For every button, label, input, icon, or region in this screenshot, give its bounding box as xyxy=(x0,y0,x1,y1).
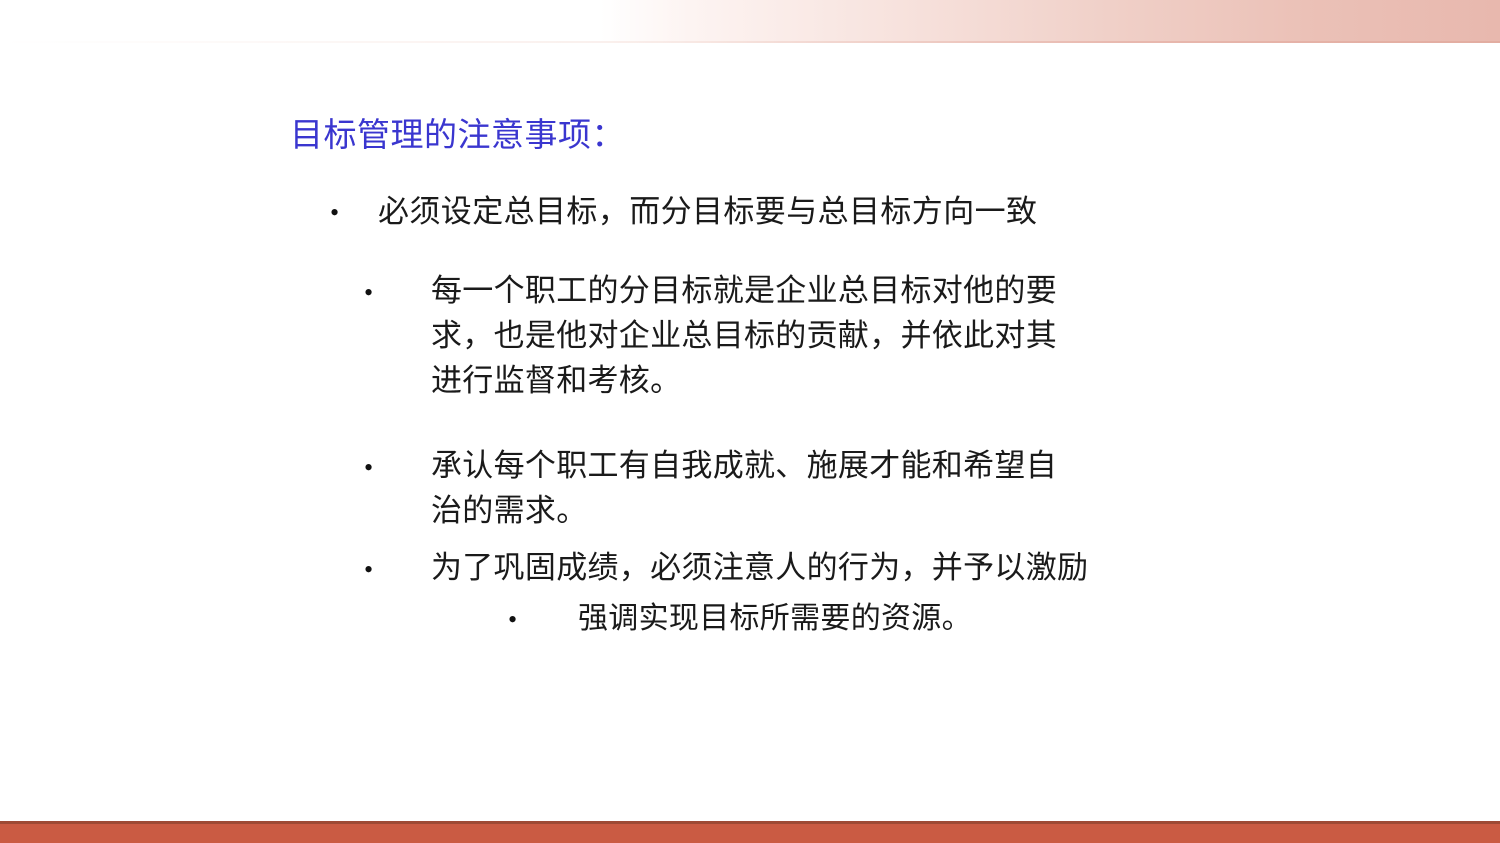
bullet-item: • 每一个职工的分目标就是企业总目标对他的要 求，也是他对企业总目标的贡献，并依… xyxy=(0,268,1500,443)
slide-body: • 必须设定总目标，而分目标要与总目标方向一致 • 每一个职工的分目标就是企业总… xyxy=(0,190,1500,649)
bullet-item: • 强调实现目标所需要的资源。 xyxy=(0,597,1500,649)
bullet-item: • 必须设定总目标，而分目标要与总目标方向一致 xyxy=(0,190,1500,268)
page-title: 目标管理的注意事项： xyxy=(290,114,625,158)
top-decorative-band xyxy=(0,0,1500,43)
bottom-accent-band xyxy=(0,824,1500,843)
bullet-line: 求，也是他对企业总目标的贡献，并依此对其 xyxy=(431,313,1057,358)
bullet-item: • 为了巩固成绩，必须注意人的行为，并予以激励 xyxy=(0,545,1500,597)
bullet-text: 承认每个职工有自我成就、施展才能和希望自 治的需求。 xyxy=(431,443,1057,533)
bullet-line: 必须设定总目标，而分目标要与总目标方向一致 xyxy=(378,190,1037,234)
bullet-line: 强调实现目标所需要的资源。 xyxy=(578,597,972,641)
bullet-marker-icon: • xyxy=(364,557,373,583)
bullet-text: 为了巩固成绩，必须注意人的行为，并予以激励 xyxy=(431,545,1088,590)
bullet-marker-icon: • xyxy=(364,455,373,481)
bullet-text: 必须设定总目标，而分目标要与总目标方向一致 xyxy=(378,190,1037,234)
bullet-marker-icon: • xyxy=(364,280,373,306)
bullet-line: 进行监督和考核。 xyxy=(431,358,1057,403)
top-band-edge xyxy=(0,41,1500,43)
bullet-item: • 承认每个职工有自我成就、施展才能和希望自 治的需求。 xyxy=(0,443,1500,545)
bullet-line: 治的需求。 xyxy=(431,488,1057,533)
bullet-line: 承认每个职工有自我成就、施展才能和希望自 xyxy=(431,443,1057,488)
bullet-text: 强调实现目标所需要的资源。 xyxy=(578,597,972,641)
bullet-marker-icon: • xyxy=(330,200,339,226)
bullet-marker-icon: • xyxy=(508,607,517,633)
bullet-line: 每一个职工的分目标就是企业总目标对他的要 xyxy=(431,268,1057,313)
bullet-line: 为了巩固成绩，必须注意人的行为，并予以激励 xyxy=(431,545,1088,590)
bullet-text: 每一个职工的分目标就是企业总目标对他的要 求，也是他对企业总目标的贡献，并依此对… xyxy=(431,268,1057,403)
presentation-slide: 目标管理的注意事项： • 必须设定总目标，而分目标要与总目标方向一致 • 每一个… xyxy=(0,0,1500,843)
